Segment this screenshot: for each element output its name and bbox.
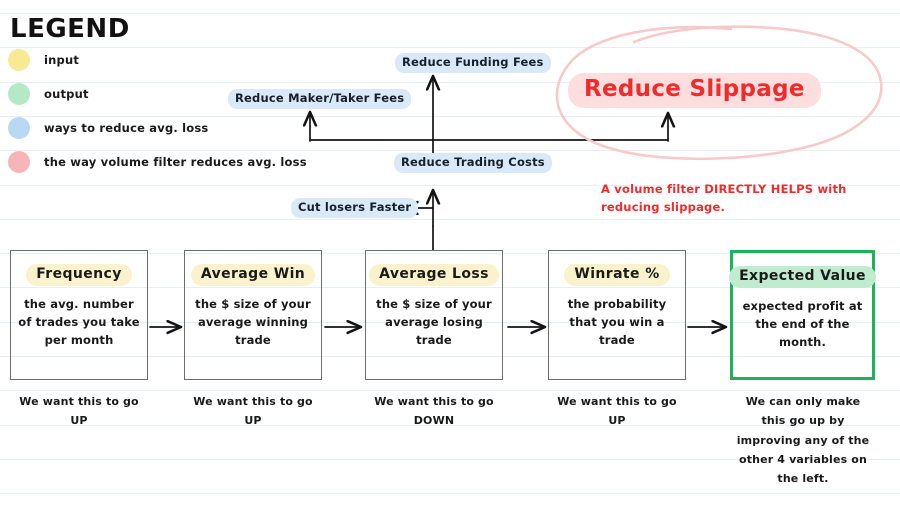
legend-item-ways-to-reduce: ways to reduce avg. loss	[8, 112, 308, 144]
box-average-win-description: the $ size of your average winning trade	[185, 296, 321, 349]
box-winrate: Winrate % the probability that you win a…	[548, 250, 686, 380]
caption-frequency: We want this to go UP	[10, 392, 148, 431]
chip-cut-losers-faster: Cut losers Faster	[291, 198, 418, 218]
box-average-loss-title: Average Loss	[369, 264, 499, 286]
caption-average-loss: We want this to go DOWN	[369, 392, 499, 431]
legend-label-input: input	[44, 53, 79, 67]
caption-winrate: We want this to go UP	[548, 392, 686, 431]
legend-label-volume-filter: the way volume filter reduces avg. loss	[44, 155, 307, 169]
diagram-canvas: LEGEND input output ways to reduce avg. …	[0, 0, 900, 507]
box-average-win: Average Win the $ size of your average w…	[184, 250, 322, 380]
legend-title: LEGEND	[10, 16, 308, 42]
legend-swatch-ways-to-reduce	[8, 117, 30, 139]
ruled-line	[0, 390, 900, 391]
legend-swatch-output	[8, 83, 30, 105]
chip-reduce-maker-taker-fees: Reduce Maker/Taker Fees	[228, 89, 411, 109]
legend-item-volume-filter: the way volume filter reduces avg. loss	[8, 146, 308, 178]
ruled-line	[0, 13, 900, 14]
chip-reduce-funding-fees: Reduce Funding Fees	[395, 53, 551, 73]
box-frequency-title: Frequency	[26, 264, 132, 286]
box-average-loss: Average Loss the $ size of your average …	[365, 250, 503, 380]
box-average-loss-description: the $ size of your average losing trade	[366, 296, 502, 349]
box-frequency: Frequency the avg. number of trades you …	[10, 250, 148, 380]
legend-item-input: input	[8, 44, 308, 76]
box-expected-value: Expected Value expected profit at the en…	[730, 250, 875, 380]
legend-swatch-input	[8, 49, 30, 71]
chip-reduce-slippage: Reduce Slippage	[568, 73, 821, 108]
box-winrate-description: the probability that you win a trade	[549, 296, 685, 349]
legend-label-output: output	[44, 87, 89, 101]
chip-reduce-trading-costs: Reduce Trading Costs	[394, 153, 552, 173]
box-expected-value-description: expected profit at the end of the month.	[733, 298, 872, 351]
box-average-win-title: Average Win	[191, 264, 315, 286]
ruled-line	[0, 493, 900, 494]
volume-filter-note-line1: A volume filter DIRECTLY HELPS with	[601, 181, 847, 199]
caption-expected-value: We can only make this go up by improving…	[733, 392, 873, 488]
legend-swatch-volume-filter	[8, 151, 30, 173]
volume-filter-note-line2: reducing slippage.	[601, 199, 847, 217]
ruled-line	[0, 219, 900, 220]
volume-filter-note: A volume filter DIRECTLY HELPS with redu…	[601, 181, 847, 217]
legend-label-ways-to-reduce: ways to reduce avg. loss	[44, 121, 208, 135]
box-frequency-description: the avg. number of trades you take per m…	[11, 296, 147, 349]
box-winrate-title: Winrate %	[564, 264, 669, 286]
box-expected-value-title: Expected Value	[729, 266, 876, 288]
caption-average-win: We want this to go UP	[184, 392, 322, 431]
